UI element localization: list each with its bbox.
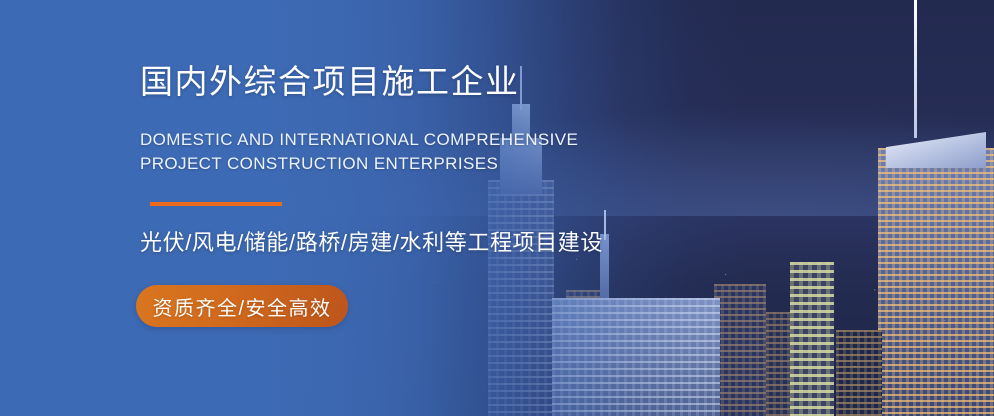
banner-content: 国内外综合项目施工企业 DOMESTIC AND INTERNATIONAL C… — [140, 0, 780, 416]
orange-divider — [150, 202, 282, 206]
banner-subtitle: DOMESTIC AND INTERNATIONAL COMPREHENSIVE… — [140, 128, 578, 176]
banner-tagline: 光伏/风电/储能/路桥/房建/水利等工程项目建设 — [140, 228, 603, 258]
banner-subtitle-line-1: DOMESTIC AND INTERNATIONAL COMPREHENSIVE — [140, 128, 578, 152]
hero-banner: 国内外综合项目施工企业 DOMESTIC AND INTERNATIONAL C… — [0, 0, 994, 416]
cta-button[interactable]: 资质齐全/安全高效 — [136, 285, 348, 327]
banner-subtitle-line-2: PROJECT CONSTRUCTION ENTERPRISES — [140, 152, 578, 176]
cta-button-label: 资质齐全/安全高效 — [152, 292, 331, 321]
banner-headline: 国内外综合项目施工企业 — [140, 62, 520, 102]
